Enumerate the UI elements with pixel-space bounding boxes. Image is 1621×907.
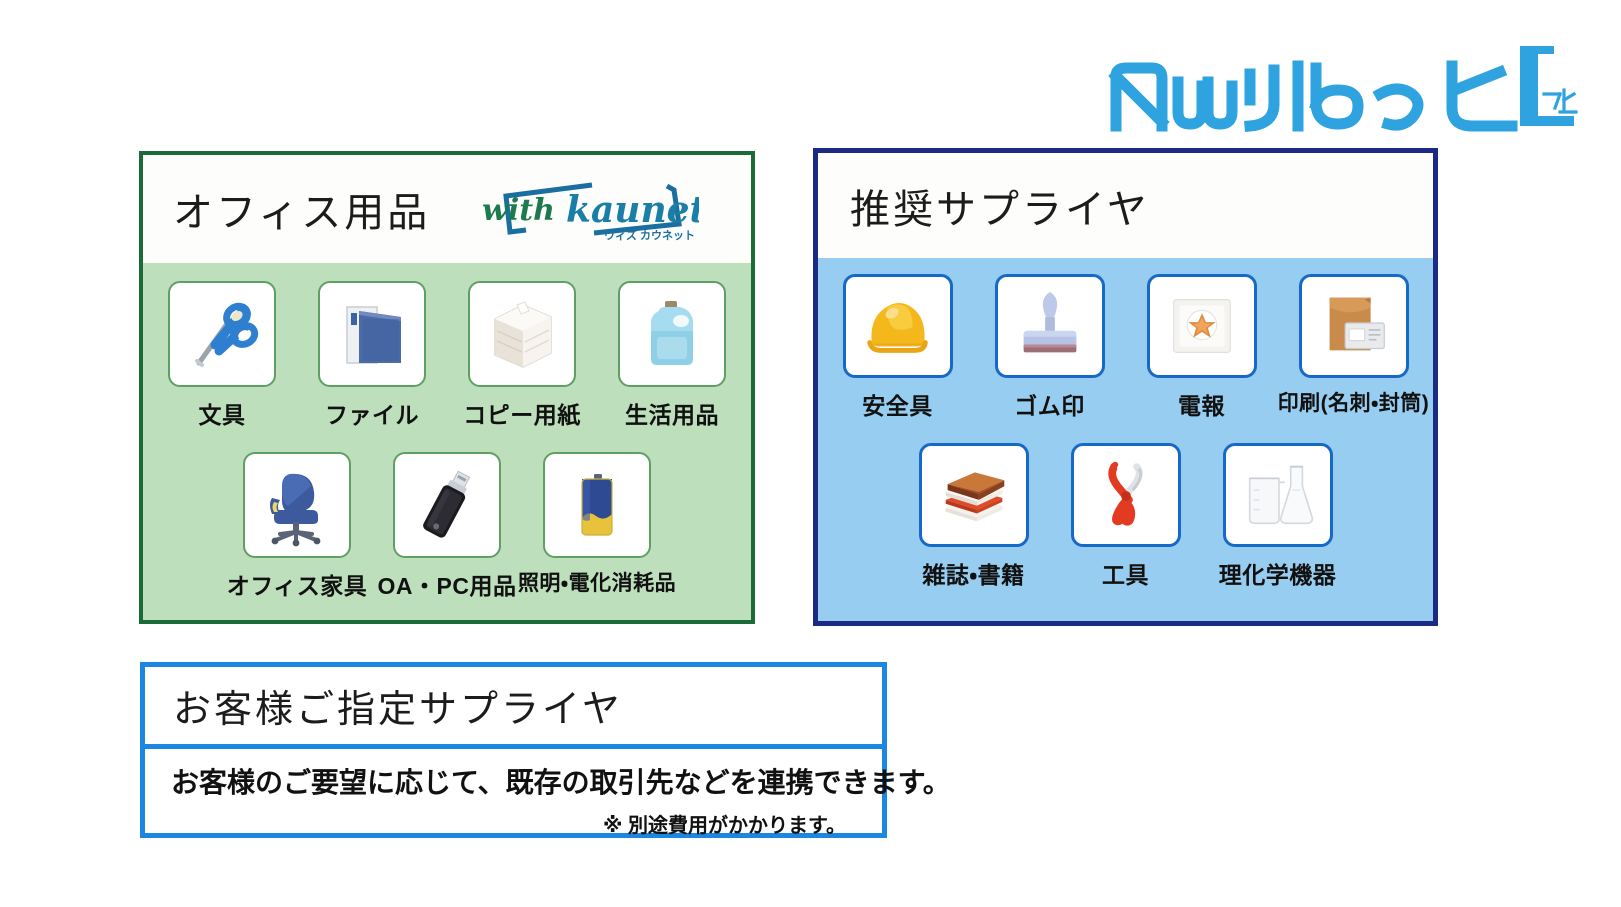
category-tile-seikatsu[interactable] — [618, 281, 726, 387]
panel-office-supplies: オフィス用品 with kaunet ウィズ カウネット — [139, 151, 755, 624]
panel-supplier-title: 推奨サプライヤ — [850, 177, 1150, 235]
rubber-stamp-icon — [1008, 284, 1092, 368]
binder-file-icon — [329, 291, 415, 377]
logo-raito-subtext — [1544, 90, 1576, 112]
lab-glassware-icon — [1236, 453, 1320, 537]
detergent-bottle-icon — [629, 291, 715, 377]
category-cell-oapc[interactable]: OA・PC用品 — [372, 452, 522, 601]
category-tile-denpo[interactable] — [1147, 274, 1257, 378]
office-chair-icon — [254, 462, 340, 548]
category-tile-kogu[interactable] — [1071, 443, 1181, 547]
category-cell-copypaper[interactable]: コピー用紙 — [447, 281, 597, 430]
category-tile-insatsu[interactable] — [1299, 274, 1409, 378]
category-tile-kagu[interactable] — [243, 452, 351, 558]
telegram-flower-icon — [1160, 284, 1244, 368]
category-cell-shomei[interactable]: 照明・電化消耗品 — [522, 452, 672, 601]
category-cell-kogu[interactable]: 工具 — [1050, 443, 1202, 590]
category-tile-bungu[interactable] — [168, 281, 276, 387]
category-tile-file[interactable] — [318, 281, 426, 387]
hard-hat-icon — [856, 284, 940, 368]
supplier-icon-row-1: 安全具 ゴム印 — [818, 274, 1433, 421]
category-label-kogu: 工具 — [1102, 556, 1149, 590]
panel-custom-body: お客様のご要望に応じて、既存の取引先などを連携できます。 ※ 別途費用がかかりま… — [145, 749, 882, 828]
custom-supplier-note: ※ 別途費用がかかります。 — [171, 809, 858, 838]
category-label-bungu: 文具 — [199, 396, 246, 430]
panel-office-body: 文具 ファイル — [143, 263, 751, 620]
panel-supplier-body: 安全具 ゴム印 — [818, 258, 1433, 621]
category-tile-oapc[interactable] — [393, 452, 501, 558]
category-label-oapc: OA・PC用品 — [378, 567, 517, 601]
category-cell-zasshi[interactable]: 雑誌・書籍 — [898, 443, 1050, 590]
panel-supplier-header: 推奨サプライヤ — [818, 153, 1433, 258]
category-label-anzengu: 安全具 — [862, 387, 933, 421]
category-tile-rikagaku[interactable] — [1223, 443, 1333, 547]
category-cell-insatsu[interactable]: 印刷(名刺・封筒) — [1278, 274, 1430, 421]
svg-text:kaunet: kaunet — [566, 189, 699, 231]
panel-recommended-supplier: 推奨サプライヤ 安全具 — [813, 148, 1438, 626]
category-label-seikatsu: 生活用品 — [625, 396, 719, 430]
category-label-copypaper: コピー用紙 — [463, 396, 581, 430]
category-tile-zasshi[interactable] — [919, 443, 1029, 547]
panel-customer-specified-supplier: お客様ご指定サプライヤ お客様のご要望に応じて、既存の取引先などを連携できます。… — [140, 662, 887, 838]
with-kaunet-logo: with kaunet ウィズ カウネット — [474, 176, 699, 242]
panel-custom-title: お客様ご指定サプライヤ — [173, 678, 623, 733]
custom-supplier-description: お客様のご要望に応じて、既存の取引先などを連携できます。 — [171, 761, 858, 801]
category-label-insatsu: 印刷(名刺・封筒) — [1278, 387, 1430, 417]
category-label-gomuin: ゴム印 — [1014, 387, 1085, 421]
category-cell-anzengu[interactable]: 安全具 — [822, 274, 974, 421]
category-cell-rikagaku[interactable]: 理化学機器 — [1202, 443, 1354, 590]
office-icon-row-1: 文具 ファイル — [143, 281, 751, 430]
brand-logo — [1108, 42, 1578, 138]
kaunet-reading: ウィズ カウネット — [604, 228, 695, 242]
supplier-icon-row-2: 雑誌・書籍 工具 — [818, 443, 1433, 590]
category-tile-anzengu[interactable] — [843, 274, 953, 378]
panel-office-title: オフィス用品 — [173, 180, 430, 238]
svg-text:with: with — [482, 193, 555, 228]
books-icon — [932, 453, 1016, 537]
category-label-shomei: 照明・電化消耗品 — [518, 567, 676, 597]
category-tile-gomuin[interactable] — [995, 274, 1105, 378]
panel-custom-header: お客様ご指定サプライヤ — [145, 667, 882, 749]
category-cell-seikatsu[interactable]: 生活用品 — [597, 281, 747, 430]
category-label-kagu: オフィス家具 — [227, 567, 368, 601]
category-label-file: ファイル — [325, 396, 419, 430]
envelope-card-icon — [1312, 284, 1396, 368]
paper-stack-icon — [479, 291, 565, 377]
battery-icon — [554, 462, 640, 548]
panel-office-header: オフィス用品 with kaunet ウィズ カウネット — [143, 155, 751, 263]
logo-l-mark — [1520, 46, 1574, 126]
usb-drive-icon — [404, 462, 490, 548]
pliers-tool-icon — [1084, 453, 1168, 537]
benrinet-light-logo-mark — [1108, 42, 1578, 138]
category-cell-denpo[interactable]: 電報 — [1126, 274, 1278, 421]
office-icon-row-2: オフィス家具 — [143, 452, 751, 601]
category-cell-kagu[interactable]: オフィス家具 — [222, 452, 372, 601]
category-tile-shomei[interactable] — [543, 452, 651, 558]
category-cell-bungu[interactable]: 文具 — [147, 281, 297, 430]
category-cell-file[interactable]: ファイル — [297, 281, 447, 430]
category-label-zasshi: 雑誌・書籍 — [922, 556, 1024, 590]
category-tile-copypaper[interactable] — [468, 281, 576, 387]
category-label-rikagaku: 理化学機器 — [1219, 556, 1337, 590]
category-cell-gomuin[interactable]: ゴム印 — [974, 274, 1126, 421]
scissors-icon — [179, 291, 265, 377]
with-kaunet-logo-mark: with kaunet ウィズ カウネット — [474, 176, 699, 242]
category-label-denpo: 電報 — [1178, 387, 1225, 421]
